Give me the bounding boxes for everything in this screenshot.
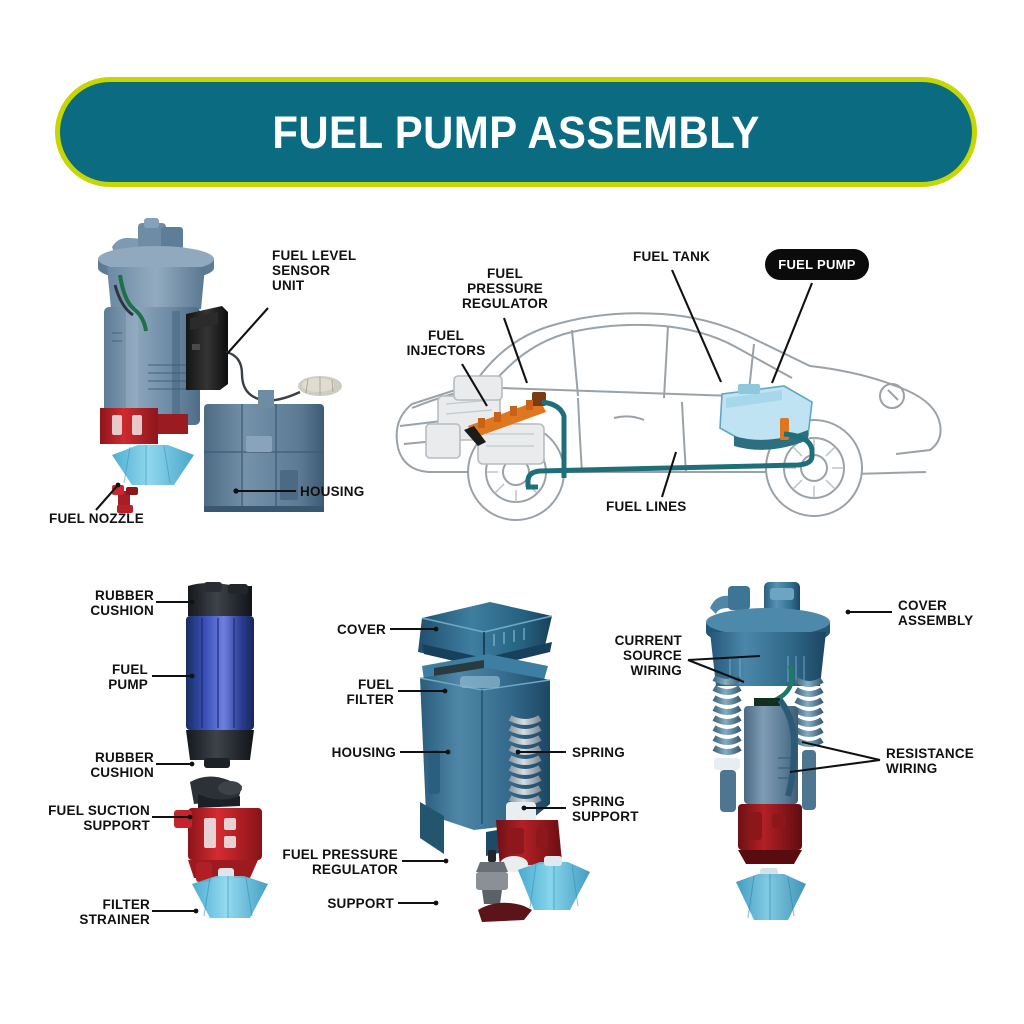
page-title-banner: FUEL PUMP ASSEMBLY	[55, 77, 977, 187]
label-filter-strainer: FILTER STRAINER	[30, 897, 150, 927]
page-title: FUEL PUMP ASSEMBLY	[272, 110, 759, 155]
label-fuel-tank: FUEL TANK	[633, 249, 710, 264]
label-current-source-wiring: CURRENT SOURCE WIRING	[580, 633, 682, 678]
label-fuel-injectors: FUEL INJECTORS	[400, 328, 492, 358]
label-fuel-filter: FUEL FILTER	[306, 677, 394, 707]
label-support: SUPPORT	[296, 896, 394, 911]
label-resistance-wiring: RESISTANCE WIRING	[886, 746, 974, 776]
label-rubber-cushion-top: RUBBER CUSHION	[30, 588, 154, 618]
label-spring-support: SPRING SUPPORT	[572, 794, 639, 824]
label-fuel-level-sensor-unit: FUEL LEVEL SENSOR UNIT	[272, 248, 356, 293]
label-fuel-suction-support: FUEL SUCTION SUPPORT	[18, 803, 150, 833]
label-fuel-pump-badge: FUEL PUMP	[765, 249, 869, 280]
assembled-fuel-pump-module-art	[690, 580, 875, 930]
label-fuel-nozzle: FUEL NOZZLE	[49, 511, 144, 526]
label-spring: SPRING	[572, 745, 625, 760]
label-fuel-pressure-regulator-mid: FUEL PRESSURE REGULATOR	[276, 847, 398, 877]
label-fuel-pump-cartridge: FUEL PUMP	[30, 662, 148, 692]
label-rubber-cushion-bottom: RUBBER CUSHION	[30, 750, 154, 780]
label-fuel-pump-text: FUEL PUMP	[778, 257, 856, 272]
label-fuel-pressure-regulator-car: FUEL PRESSURE REGULATOR	[455, 266, 555, 311]
vehicle-fuel-system-art	[382, 278, 967, 528]
label-cover: COVER	[296, 622, 386, 637]
label-housing-topleft: HOUSING	[300, 484, 364, 499]
label-fuel-lines: FUEL LINES	[606, 499, 687, 514]
label-housing-mid: HOUSING	[296, 745, 396, 760]
diagram-page: FUEL PUMP ASSEMBLY	[0, 0, 1024, 1024]
label-cover-assembly: COVER ASSEMBLY	[898, 598, 973, 628]
